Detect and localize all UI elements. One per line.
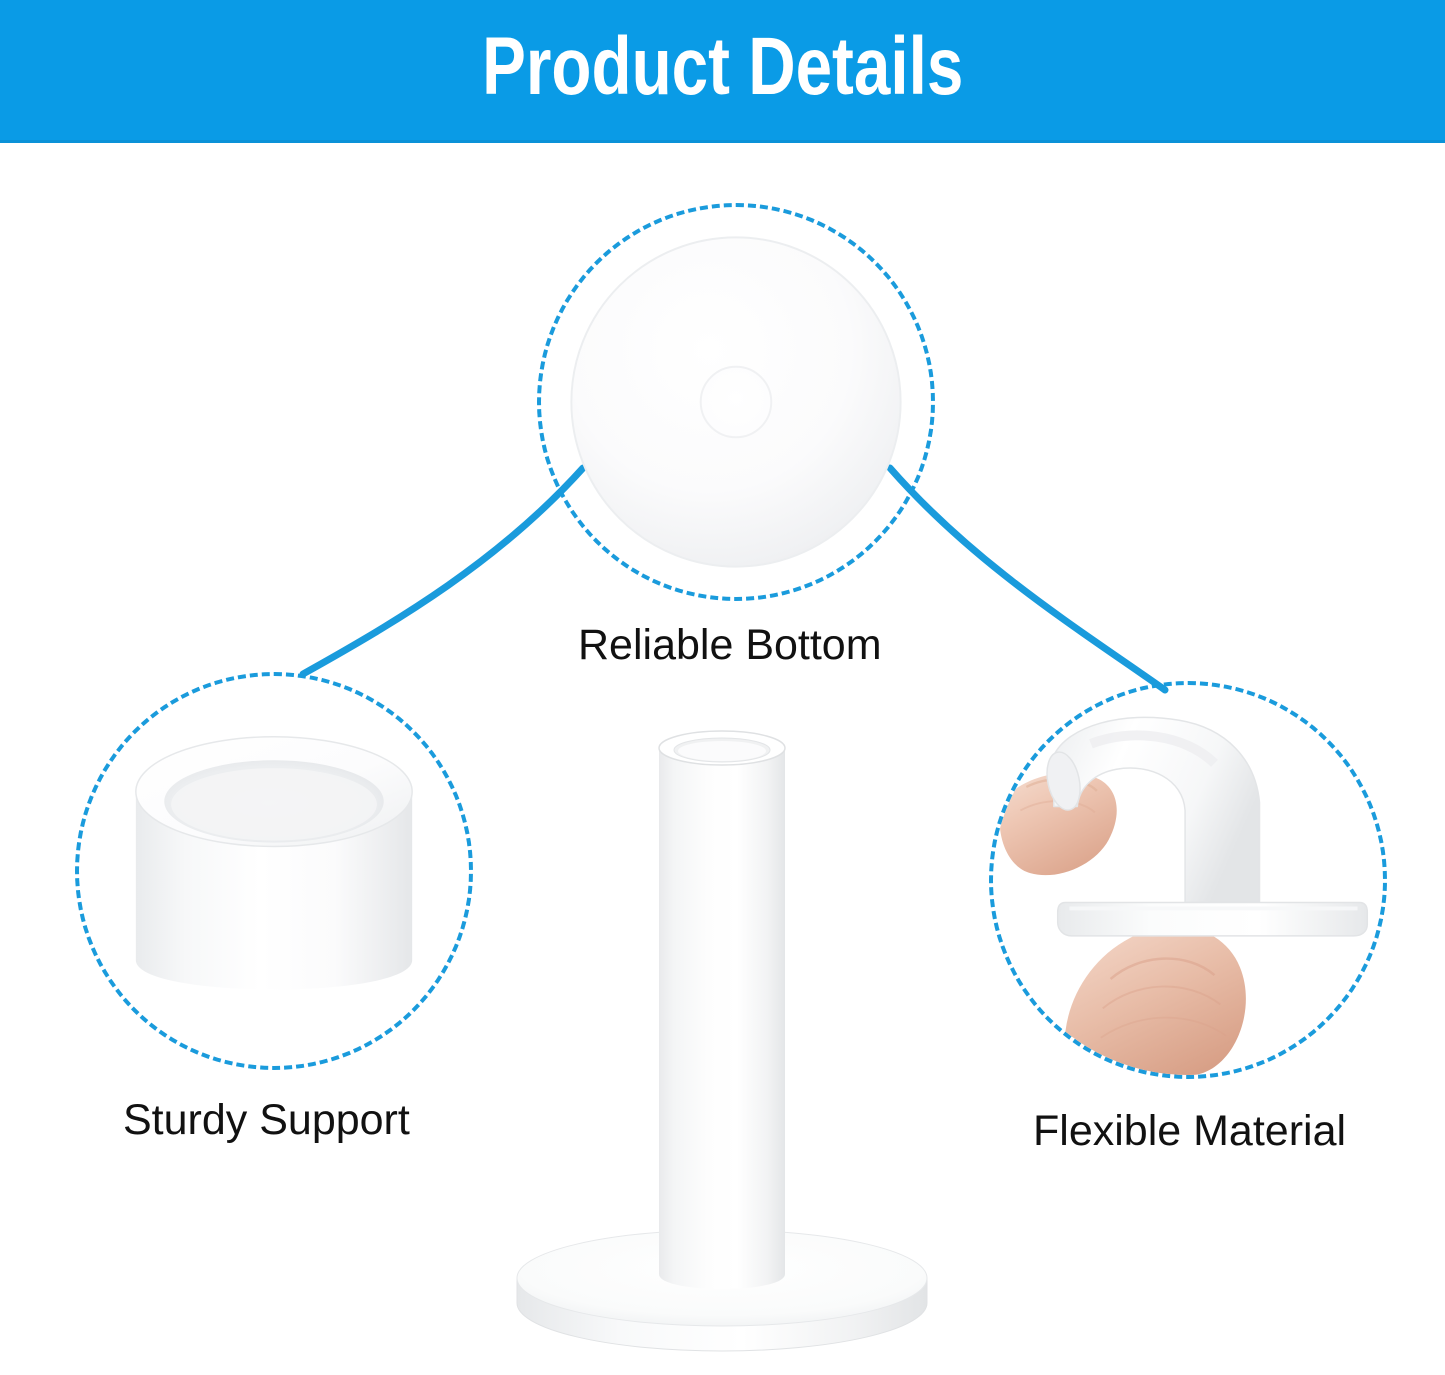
callout-label-flexible-material: Flexible Material xyxy=(1033,1108,1346,1155)
callout-image-flexible-material xyxy=(993,685,1383,1075)
hollow-cylinder-tube-icon xyxy=(79,676,469,1066)
main-product-image xyxy=(487,718,957,1358)
disc-with-center-hole-icon xyxy=(541,207,931,597)
callout-circle-sturdy-support xyxy=(75,672,473,1070)
callout-label-sturdy-support: Sturdy Support xyxy=(123,1097,410,1144)
callout-image-sturdy-support xyxy=(79,676,469,1066)
fingers-bending-rubber-tee-icon xyxy=(993,685,1383,1075)
connector-top-to-left xyxy=(303,468,583,674)
connector-top-to-right xyxy=(890,468,1165,690)
page-title: Product Details xyxy=(482,26,963,114)
callout-circle-flexible-material xyxy=(989,681,1387,1079)
product-details-page: Product Details xyxy=(0,0,1445,1375)
header-banner: Product Details xyxy=(0,0,1445,143)
rubber-golf-tee-illustration xyxy=(487,718,957,1358)
callout-label-reliable-bottom: Reliable Bottom xyxy=(578,622,882,669)
callout-circle-reliable-bottom xyxy=(537,203,935,601)
callout-image-reliable-bottom xyxy=(541,207,931,597)
